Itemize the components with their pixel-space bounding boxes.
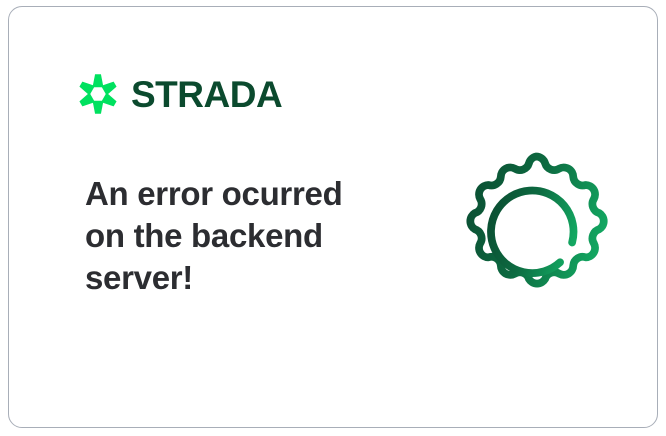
error-card: STRADA An error ocurred on the backend s… (8, 6, 658, 428)
brand-lockup: STRADA (77, 73, 282, 115)
error-screen: STRADA An error ocurred on the backend s… (0, 0, 666, 436)
strada-asterisk-icon (77, 73, 119, 115)
error-message: An error ocurred on the backend server! (85, 173, 385, 299)
brand-wordmark: STRADA (131, 76, 282, 113)
